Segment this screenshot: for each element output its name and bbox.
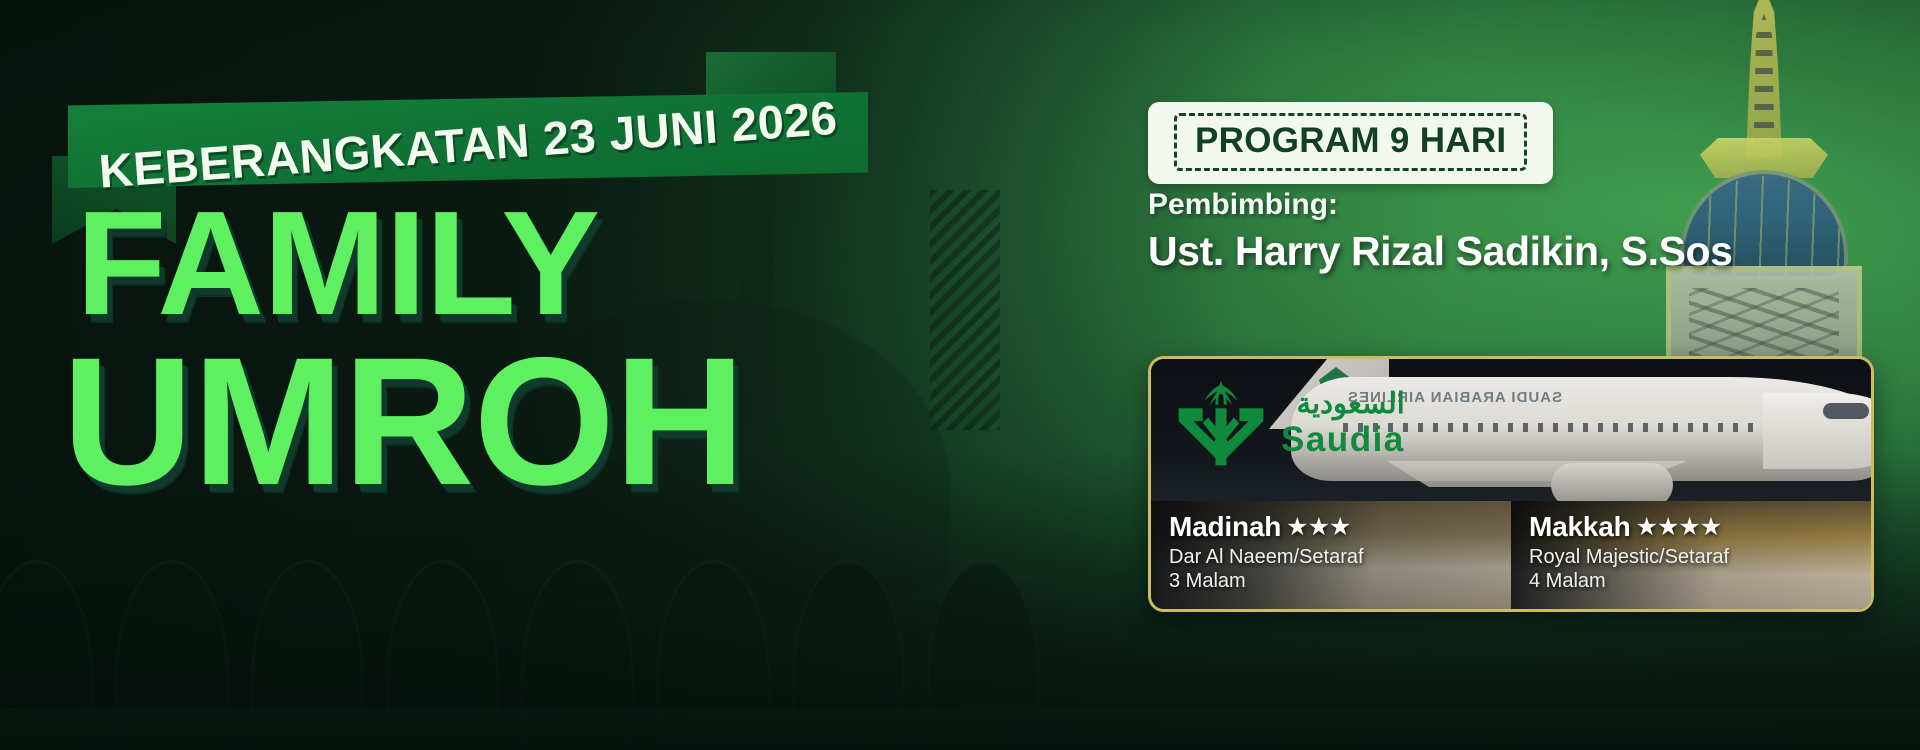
saudia-wordmark: السعودية Saudia bbox=[1281, 390, 1405, 457]
hotel-name-madinah: Dar Al Naeem/Setaraf bbox=[1169, 545, 1495, 569]
saudia-logo: السعودية Saudia bbox=[1175, 377, 1405, 469]
headline-family: FAMILY bbox=[76, 196, 942, 332]
hotel-heading-makkah: Makkah ★★★★ bbox=[1529, 511, 1855, 543]
hotel-star-rating-makkah: ★★★★ bbox=[1636, 512, 1722, 542]
hotel-nights-makkah: 4 Malam bbox=[1529, 569, 1855, 593]
guide-label: Pembimbing: bbox=[1148, 188, 1338, 222]
hotel-card-makkah: Makkah ★★★★ Royal Majestic/Setaraf 4 Mal… bbox=[1511, 501, 1871, 609]
program-duration-label: PROGRAM 9 HARI bbox=[1174, 113, 1527, 171]
hotel-star-rating-madinah: ★★★ bbox=[1286, 512, 1350, 542]
guide-name: Ust. Harry Rizal Sadikin, S.Sos bbox=[1148, 228, 1733, 275]
hotel-nights-madinah: 3 Malam bbox=[1169, 569, 1495, 593]
saudia-palm-swords-icon bbox=[1175, 377, 1267, 469]
package-details-card: SAUDI ARABIAN AIRLINES bbox=[1148, 356, 1874, 612]
hotel-city-madinah: Madinah bbox=[1169, 511, 1281, 543]
hotel-name-makkah: Royal Majestic/Setaraf bbox=[1529, 545, 1855, 569]
page-title: FAMILY UMROH bbox=[62, 196, 942, 506]
airplane-cockpit-window bbox=[1823, 403, 1869, 419]
hotel-city-makkah: Makkah bbox=[1529, 511, 1631, 543]
program-duration-badge: PROGRAM 9 HARI bbox=[1148, 102, 1553, 184]
hotel-heading-madinah: Madinah ★★★ bbox=[1169, 511, 1495, 543]
headline-umroh: UMROH bbox=[62, 338, 942, 505]
umroh-promo-banner: KEBERANGKATAN 23 JUNI 2026 FAMILY UMROH … bbox=[0, 0, 1920, 750]
hotel-list: Madinah ★★★ Dar Al Naeem/Setaraf 3 Malam… bbox=[1151, 501, 1871, 609]
arcade-floor-shade bbox=[0, 708, 1920, 750]
saudia-arabic-name: السعودية bbox=[1281, 390, 1405, 419]
saudia-latin-name: Saudia bbox=[1281, 422, 1405, 457]
airplane-cabin-windows bbox=[1343, 423, 1763, 432]
hotel-card-madinah: Madinah ★★★ Dar Al Naeem/Setaraf 3 Malam bbox=[1151, 501, 1511, 609]
